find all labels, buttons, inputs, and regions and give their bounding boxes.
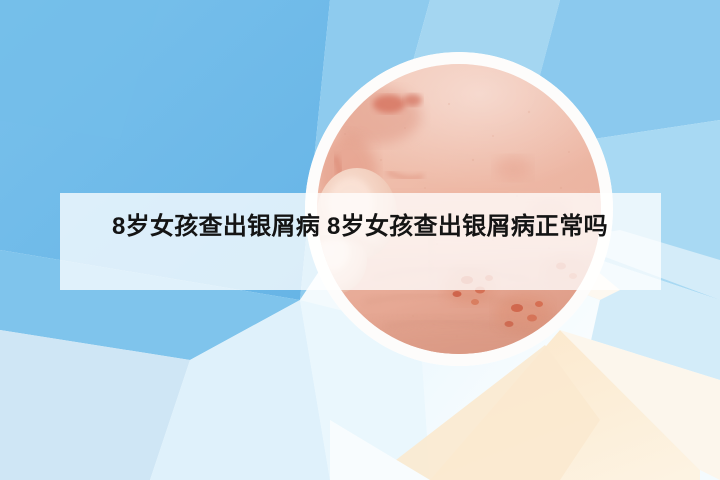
page-title: 8岁女孩查出银屑病 8岁女孩查出银屑病正常吗 — [112, 210, 632, 244]
thumbnail-canvas: 8岁女孩查出银屑病 8岁女孩查出银屑病正常吗 — [0, 0, 720, 480]
